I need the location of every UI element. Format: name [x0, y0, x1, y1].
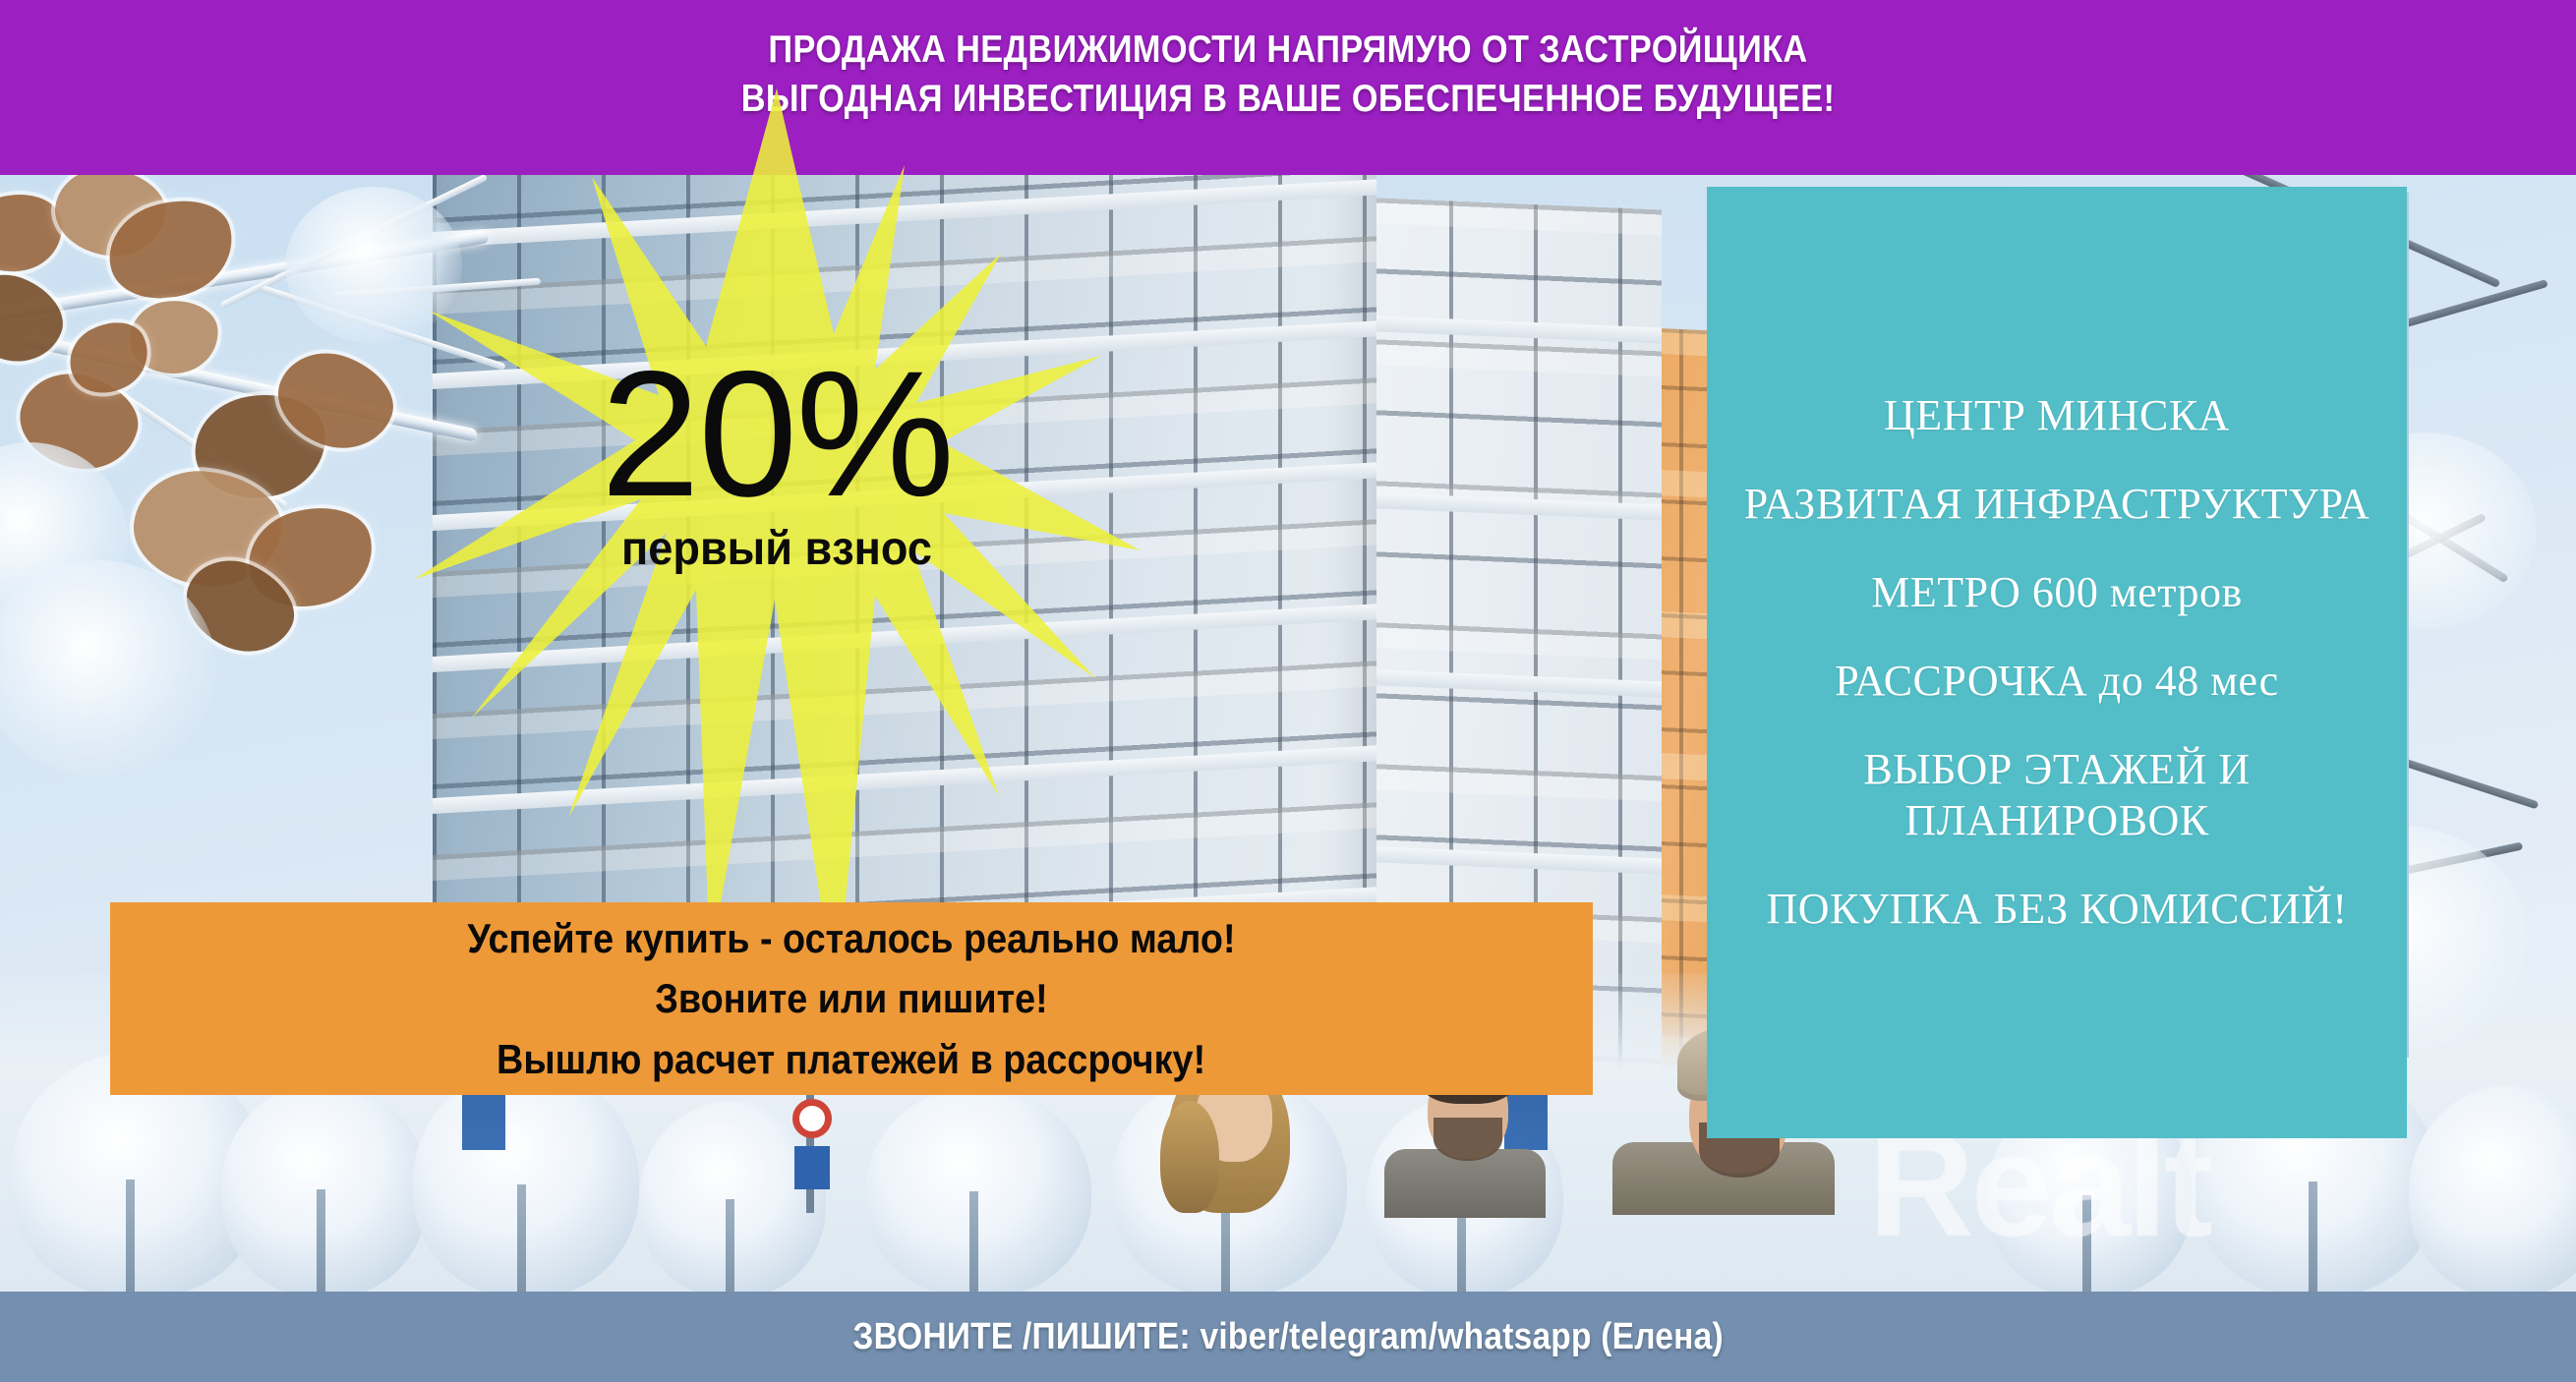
discount-caption: первый взнос — [435, 522, 1119, 576]
feature-item-1: РАЗВИТАЯ ИНФРАСТРУКТУРА — [1744, 479, 2370, 530]
callout-line-2: Звоните или пишите! — [655, 968, 1048, 1028]
discount-percent: 20% — [413, 352, 1141, 516]
header-line-1: ПРОДАЖА НЕДВИЖИМОСТИ НАПРЯМУЮ ОТ ЗАСТРОЙ… — [154, 26, 2422, 75]
header-bar: ПРОДАЖА НЕДВИЖИМОСТИ НАПРЯМУЮ ОТ ЗАСТРОЙ… — [0, 0, 2576, 175]
callout-line-3: Вышлю расчет платежей в рассрочку! — [497, 1029, 1205, 1089]
urgency-callout: Успейте купить - осталось реально мало! … — [110, 902, 1593, 1095]
feature-panel: ЦЕНТР МИНСКА РАЗВИТАЯ ИНФРАСТРУКТУРА МЕТ… — [1707, 187, 2407, 1138]
discount-starburst: 20% первый взнос — [413, 88, 1141, 1003]
feature-item-0: ЦЕНТР МИНСКА — [1884, 390, 2230, 441]
contact-footer-bar: ЗВОНИТЕ /ПИШИТЕ: viber/telegram/whatsapp… — [0, 1292, 2576, 1382]
feature-item-3: РАССРОЧКА до 48 мес — [1835, 656, 2278, 707]
advertisement-banner: Realt ПРОДАЖА НЕДВИЖИМОСТИ НАПРЯМУЮ ОТ З… — [0, 0, 2576, 1382]
info-sign-icon — [794, 1146, 830, 1189]
feature-item-2: МЕТРО 600 метров — [1871, 567, 2243, 618]
feature-item-4: ВЫБОР ЭТАЖЕЙ И ПЛАНИРОВОК — [1732, 744, 2381, 846]
contact-text: ЗВОНИТЕ /ПИШИТЕ: viber/telegram/whatsapp… — [852, 1316, 1724, 1358]
callout-line-1: Успейте купить - осталось реально мало! — [467, 908, 1235, 968]
feature-item-5: ПОКУПКА БЕЗ КОМИССИЙ! — [1766, 884, 2347, 935]
no-entry-sign-icon — [792, 1099, 832, 1138]
